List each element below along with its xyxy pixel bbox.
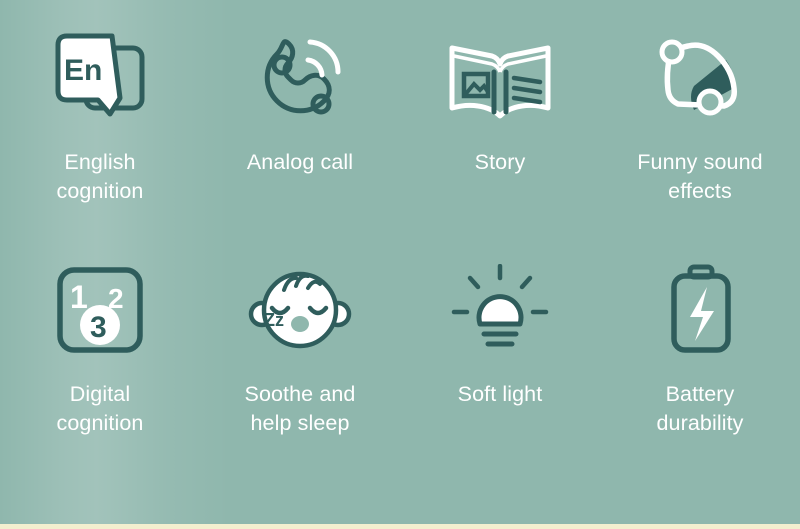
feature-item-soothe-help-sleep[interactable]: Zz Soothe and help sleep bbox=[200, 254, 400, 486]
battery-bolt-icon bbox=[660, 254, 740, 366]
feature-label: English cognition bbox=[57, 148, 144, 205]
feature-item-analog-call[interactable]: Analog call bbox=[200, 22, 400, 254]
feature-label: Battery durability bbox=[656, 380, 743, 437]
feature-label: Funny sound effects bbox=[637, 148, 762, 205]
feature-item-digital-cognition[interactable]: 1 2 3 Digital cognition bbox=[0, 254, 200, 486]
light-bulb-icon bbox=[448, 254, 552, 366]
feature-label: Soothe and help sleep bbox=[245, 380, 356, 437]
numbers-card-icon-digit-3: 3 bbox=[90, 311, 107, 344]
feature-label: Story bbox=[475, 148, 526, 177]
feature-grid: En English cognition Analog call bbox=[0, 0, 800, 524]
language-card-icon: En bbox=[48, 22, 152, 134]
bottom-accent-strip bbox=[0, 524, 800, 529]
feature-item-english-cognition[interactable]: En English cognition bbox=[0, 22, 200, 254]
sleeping-baby-icon: Zz bbox=[242, 254, 358, 366]
bell-icon bbox=[648, 22, 752, 134]
numbers-card-icon-digit-1: 1 bbox=[70, 279, 88, 315]
feature-item-battery-durability[interactable]: Battery durability bbox=[600, 254, 800, 486]
phone-handset-icon bbox=[248, 22, 352, 134]
feature-banner: En English cognition Analog call bbox=[0, 0, 800, 529]
sleeping-baby-icon-zz: Zz bbox=[264, 310, 284, 330]
language-card-icon-text: En bbox=[64, 54, 102, 87]
feature-label: Digital cognition bbox=[57, 380, 144, 437]
feature-item-soft-light[interactable]: Soft light bbox=[400, 254, 600, 486]
open-book-icon bbox=[444, 22, 556, 134]
feature-item-funny-sound-effects[interactable]: Funny sound effects bbox=[600, 22, 800, 254]
feature-label: Soft light bbox=[458, 380, 543, 409]
feature-item-story[interactable]: Story bbox=[400, 22, 600, 254]
numbers-card-icon: 1 2 3 bbox=[52, 254, 148, 366]
feature-label: Analog call bbox=[247, 148, 353, 177]
